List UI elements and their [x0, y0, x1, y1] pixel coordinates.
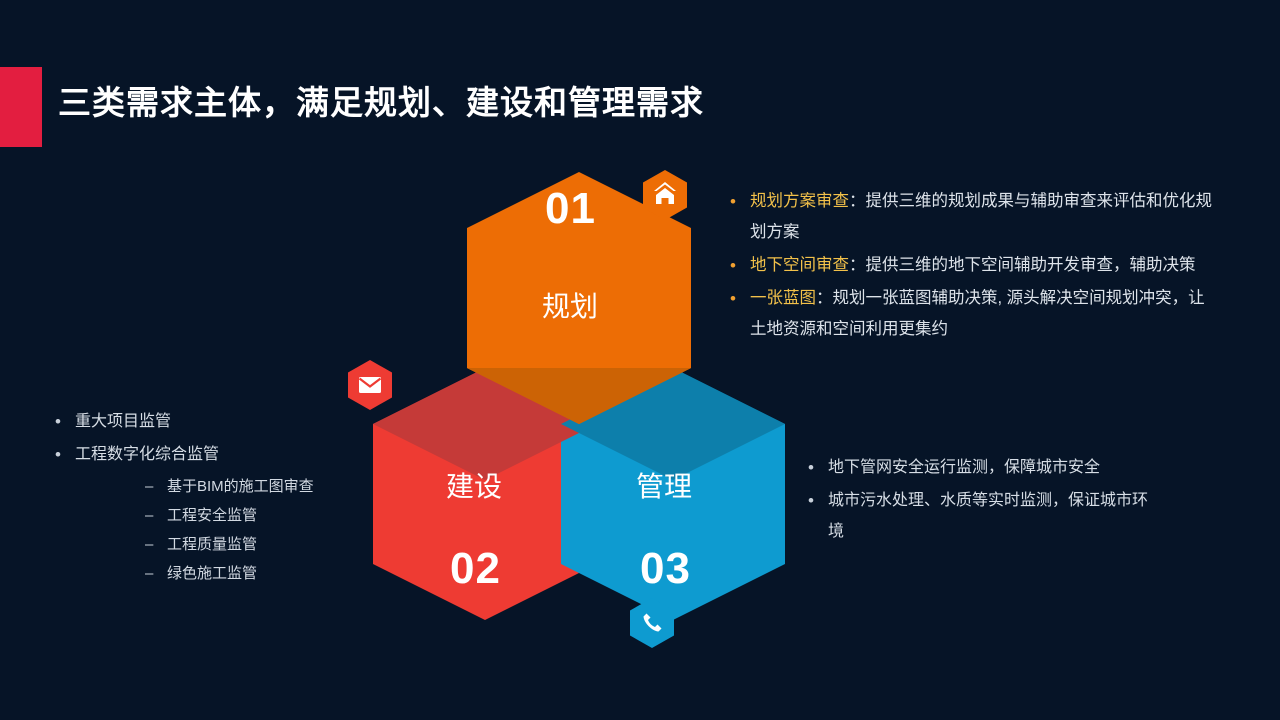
- dash-marker: –: [145, 530, 167, 559]
- hexagon-label-management: 管理: [636, 465, 692, 505]
- list-item: • 工程数字化综合监管: [55, 439, 385, 470]
- list-item: • 重大项目监管: [55, 406, 385, 437]
- sub-list-item: – 工程质量监管: [55, 530, 385, 559]
- sub-item-label: 工程安全监管: [167, 501, 257, 530]
- bullet-term: 一张蓝图: [750, 289, 816, 307]
- bullet-marker: •: [55, 439, 75, 470]
- badge-construction[interactable]: [348, 360, 392, 410]
- management-bullet-list: • 地下管网安全运行监测，保障城市安全 • 城市污水处理、水质等实时监测，保证城…: [808, 452, 1168, 549]
- list-item: • 城市污水处理、水质等实时监测，保证城市环境: [808, 485, 1168, 547]
- hexagon-number-01: 01: [545, 184, 596, 234]
- sub-item-label: 工程质量监管: [167, 530, 257, 559]
- hexagon-number-03: 03: [640, 544, 691, 594]
- sub-item-label: 绿色施工监管: [167, 559, 257, 588]
- bullet-separator: ：: [816, 289, 833, 307]
- sub-list-item: – 绿色施工监管: [55, 559, 385, 588]
- page-title: 三类需求主体，满足规划、建设和管理需求: [58, 76, 704, 124]
- list-item: • 地下空间审查：提供三维的地下空间辅助开发审查，辅助决策: [730, 250, 1220, 281]
- bullet-marker: •: [730, 283, 750, 314]
- bullet-body: 重大项目监管: [75, 406, 171, 437]
- sub-list-item: – 工程安全监管: [55, 501, 385, 530]
- bullet-body: 提供三维的地下空间辅助开发审查，辅助决策: [866, 256, 1196, 274]
- sub-list-item: – 基于BIM的施工图审查: [55, 472, 385, 501]
- planning-bullet-list: • 规划方案审查：提供三维的规划成果与辅助审查来评估和优化规划方案 • 地下空间…: [730, 186, 1220, 347]
- hexagon-label-construction: 建设: [446, 465, 502, 505]
- dash-marker: –: [145, 559, 167, 588]
- bullet-marker: •: [730, 250, 750, 281]
- dash-marker: –: [145, 472, 167, 501]
- title-accent-bar: [0, 67, 42, 147]
- bullet-term: 地下空间审查: [750, 256, 849, 274]
- dash-marker: –: [145, 501, 167, 530]
- list-item: • 地下管网安全运行监测，保障城市安全: [808, 452, 1168, 483]
- list-item: • 规划方案审查：提供三维的规划成果与辅助审查来评估和优化规划方案: [730, 186, 1220, 248]
- hexagon-label-planning: 规划: [542, 285, 598, 325]
- badge-planning[interactable]: [643, 170, 687, 220]
- bullet-separator: ：: [849, 256, 866, 274]
- bullet-separator: ：: [849, 192, 866, 210]
- hexagon-number-02: 02: [450, 544, 501, 594]
- bullet-body: 城市污水处理、水质等实时监测，保证城市环境: [828, 485, 1158, 547]
- bullet-marker: •: [730, 186, 750, 217]
- badge-management[interactable]: [630, 598, 674, 648]
- construction-bullet-list: • 重大项目监管 • 工程数字化综合监管 – 基于BIM的施工图审查 – 工程安…: [55, 406, 385, 588]
- bullet-marker: •: [55, 406, 75, 437]
- list-item: • 一张蓝图：规划一张蓝图辅助决策, 源头解决空间规划冲突，让土地资源和空间利用…: [730, 283, 1220, 345]
- bullet-marker: •: [808, 485, 828, 516]
- bullet-body: 地下管网安全运行监测，保障城市安全: [828, 452, 1158, 483]
- bullet-body: 工程数字化综合监管: [75, 439, 219, 470]
- sub-item-label: 基于BIM的施工图审查: [167, 472, 314, 501]
- bullet-term: 规划方案审查: [750, 192, 849, 210]
- bullet-marker: •: [808, 452, 828, 483]
